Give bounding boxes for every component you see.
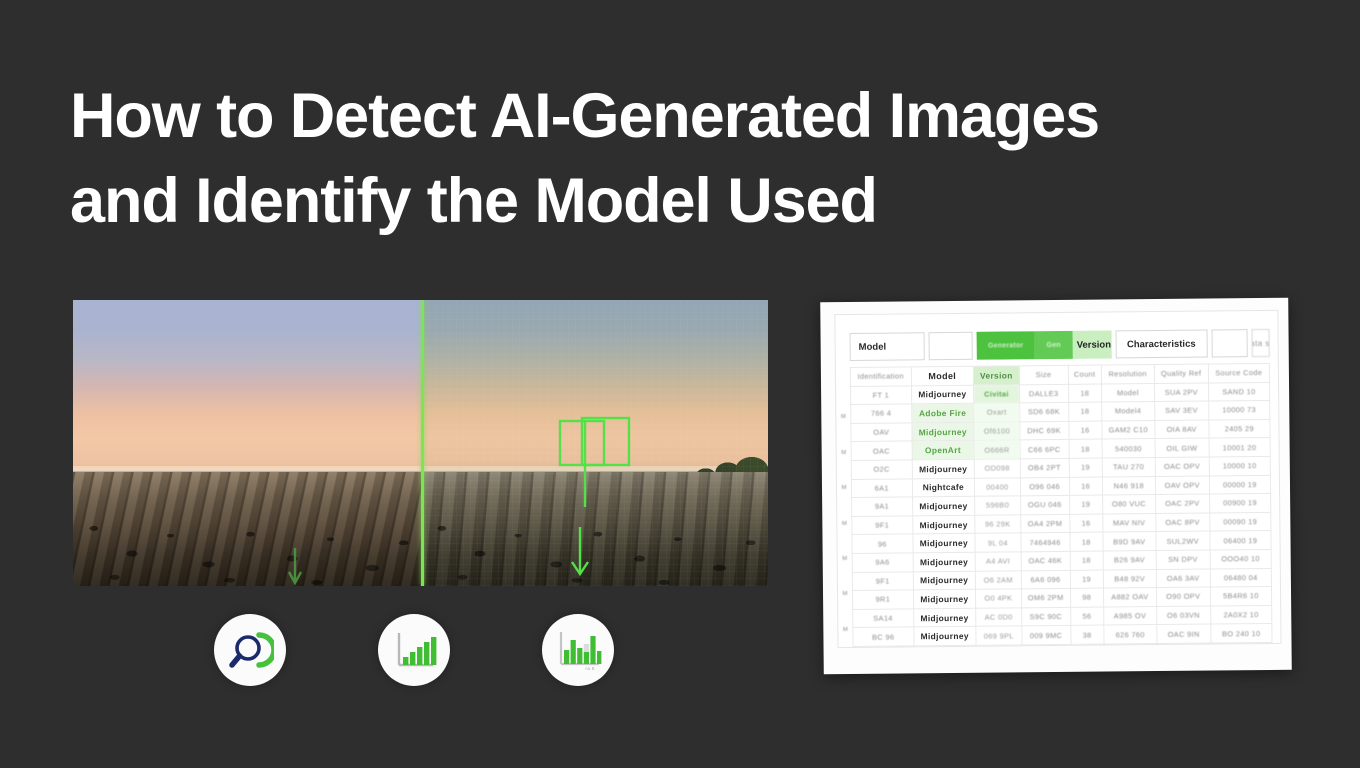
cell-quality-ref: SN DPV <box>1156 550 1210 569</box>
cell-model: Midjourney <box>914 645 977 648</box>
model-comparison-table-panel: Model Generator Gen Version Characterist… <box>820 298 1292 674</box>
cell-size: OA4 2PM <box>1020 514 1069 533</box>
bar-chart-ascending-glyph <box>391 627 437 673</box>
cell-count: 98 <box>1070 588 1103 607</box>
cell-model: Nightcafe <box>912 478 975 497</box>
cell-quality-ref: OAC OPV <box>1155 457 1209 476</box>
cell-model: Adobe Fire <box>911 403 974 422</box>
cell-size: S9C 90C <box>1021 607 1070 626</box>
cell-resolution: B48 09W <box>1104 643 1157 648</box>
cell-source-code: 06400 19 <box>1210 531 1271 550</box>
cell-identification: BC 96 <box>853 627 914 646</box>
cell-resolution: TAU 270 <box>1102 458 1155 477</box>
ploughed-field-ai <box>421 472 768 586</box>
cell-count: 18 <box>1070 551 1103 570</box>
cell-size: C66 6PC <box>1020 440 1069 459</box>
col-quality-ref: Quality Ref <box>1154 364 1208 383</box>
comparison-split-line <box>421 300 424 586</box>
bar-chart-distribution-glyph: Aa B <box>554 626 602 674</box>
comparison-grid-body: FT 1MidjourneyCivitaiDALLE318ModelSUA 2P… <box>851 382 1273 648</box>
cell-identification: 9F1 <box>852 516 913 535</box>
cell-size: OM6 2PM <box>1021 588 1070 607</box>
cell-identification: 9A1 <box>852 497 913 516</box>
filter-version-label: Version <box>1077 330 1112 358</box>
cell-model: Midjourney <box>913 589 976 608</box>
cell-identification: 766 4 <box>851 404 912 423</box>
page-title-line-1: How to Detect AI-Generated Images <box>70 74 1270 159</box>
cell-quality-ref: OA6 3AV <box>1156 569 1210 588</box>
cell-quality-ref: OAV OPV <box>1155 476 1209 495</box>
cell-size: O96 046 <box>1020 477 1069 496</box>
cell-quality-ref: O6 03VN <box>1156 606 1210 625</box>
cell-resolution: B9D 9AV <box>1103 532 1156 551</box>
col-size: Size <box>1019 365 1068 384</box>
svg-text:Aa B: Aa B <box>585 666 595 671</box>
row-marker-gutter: MMMMMMM <box>835 315 852 647</box>
magnifier-analysis-glyph <box>226 626 274 674</box>
cell-size: DHC 69K <box>1020 421 1069 440</box>
cell-count: 19 <box>1069 458 1102 477</box>
cell-model: OpenArt <box>912 441 975 460</box>
cell-identification: 9A6 <box>852 553 913 572</box>
cell-source-code: 06480 04 <box>1210 568 1271 587</box>
cell-model: Midjourney <box>911 422 974 441</box>
cell-quality-ref: OIL GIW <box>1155 438 1209 457</box>
cell-resolution: GAM2 C10 <box>1102 420 1155 439</box>
cell-size: DALLE3 <box>1019 384 1068 403</box>
row-marker: M <box>840 485 848 491</box>
model-comparison-table: Model Generator Gen Version Characterist… <box>834 310 1281 648</box>
cell-version: 66 000 <box>976 645 1022 648</box>
cell-version: 00400 <box>974 477 1020 496</box>
cell-model: Midjourney <box>913 534 976 553</box>
bar-chart-distribution-icon[interactable]: Aa B <box>542 614 614 686</box>
cell-count: 19 <box>1070 570 1103 589</box>
col-source-code: Source Code <box>1208 363 1269 382</box>
cell-size: OGU 046 <box>1020 496 1069 515</box>
cell-identification: 6A1 <box>851 478 912 497</box>
cell-model: Midjourney <box>913 552 976 571</box>
cell-source-code: OOO40 10 <box>1210 549 1271 568</box>
filter-blank1[interactable] <box>929 332 973 360</box>
cell-count: 16 <box>1069 477 1102 496</box>
row-marker: M <box>840 521 848 527</box>
cell-size: 7464946 <box>1021 533 1070 552</box>
cell-size: 009 9MC <box>1022 626 1071 645</box>
cell-count: 18 <box>1069 439 1102 458</box>
cell-resolution: 540030 <box>1102 439 1155 458</box>
ploughed-field-real <box>73 472 421 586</box>
cell-quality-ref: OIA 8AV <box>1155 420 1209 439</box>
cell-quality-ref: OAC 9IN <box>1157 624 1211 643</box>
sky-gradient-real <box>73 300 421 472</box>
cell-source-code: 00900 19 <box>1209 494 1270 513</box>
cell-resolution: O80 VUC <box>1102 495 1155 514</box>
row-marker: M <box>841 627 849 633</box>
row-marker: M <box>839 414 847 420</box>
cell-identification: 9F1 60 <box>853 646 914 648</box>
cell-count: 38 <box>1070 625 1103 644</box>
cell-quality-ref: SAV 3EV <box>1154 401 1208 420</box>
cell-source-code: 5B4R6 10 <box>1210 587 1271 606</box>
ai-vs-real-landscape-comparison <box>73 300 768 586</box>
cell-version: 9L 04 <box>975 533 1021 552</box>
cell-count: 18 <box>1068 384 1101 403</box>
cell-version: 596B0 <box>975 496 1021 515</box>
cell-source-code: 00090 19 <box>1209 512 1270 531</box>
col-count: Count <box>1068 365 1101 384</box>
cell-model: Midjourney <box>911 385 974 404</box>
filter-version[interactable]: Generator Gen Version <box>977 330 1112 359</box>
col-model: Model <box>911 366 974 385</box>
col-identification: Identification <box>850 367 911 386</box>
cell-resolution: A985 OV <box>1104 606 1157 625</box>
cell-version: Of6100 <box>974 422 1020 441</box>
cell-model: Midjourney <box>913 608 976 627</box>
cell-version: O6 2AM <box>975 570 1021 589</box>
table-filter-bar: Model Generator Gen Version Characterist… <box>850 329 1270 361</box>
cell-version: Oxart <box>974 403 1020 422</box>
page-title-line-2: and Identify the Model Used <box>70 159 1270 244</box>
cell-quality-ref: OAC 8PV <box>1155 513 1209 532</box>
cell-model: Midjourney <box>912 496 975 515</box>
cell-source-code: 10000 73 <box>1208 401 1269 420</box>
filter-meta[interactable]: AI data score <box>1252 329 1270 357</box>
comparison-grid: Identification Model Version Size Count … <box>850 363 1273 648</box>
soil-texture-real <box>73 514 421 586</box>
cell-version: O666R <box>974 440 1020 459</box>
cell-source-code: 10000 10 <box>1209 456 1270 475</box>
cell-model: Midjourney <box>913 627 976 646</box>
cell-size: SD6 68K <box>1019 403 1068 422</box>
cell-version: A4 AVI <box>975 552 1021 571</box>
cell-count: 19 <box>1069 495 1102 514</box>
feature-icon-row: Aa B <box>214 614 634 686</box>
cell-count: 18 <box>1068 402 1101 421</box>
cell-count: 18 <box>1069 532 1102 551</box>
col-version: Version <box>973 366 1019 385</box>
cell-count: 16 <box>1069 514 1102 533</box>
cell-source-code: BO 240 10 <box>1211 624 1272 643</box>
cell-quality-ref: SUL2WV <box>1156 531 1210 550</box>
filter-model[interactable]: Model <box>850 332 925 361</box>
cell-source-code: 00000 19 <box>1209 475 1270 494</box>
cell-size: 6A6 096 <box>1021 570 1070 589</box>
cell-resolution: A882 OAV <box>1103 588 1156 607</box>
cell-version: 96 29K <box>975 515 1021 534</box>
cell-resolution: N46 918 <box>1102 476 1155 495</box>
real-photo-half <box>73 300 421 586</box>
filter-version-blur-a: Generator <box>977 331 1035 360</box>
cell-model: Midjourney <box>912 515 975 534</box>
cell-identification: OAV <box>851 423 912 442</box>
ai-generated-half <box>421 300 768 586</box>
col-resolution: Resolution <box>1101 365 1154 384</box>
cell-count: 56 <box>1071 644 1104 648</box>
cell-model: Midjourney <box>913 571 976 590</box>
cell-version: O0 4PK <box>976 589 1022 608</box>
cell-version: Civitai <box>974 384 1020 403</box>
cell-quality-ref: 9AV 9IW <box>1157 643 1211 648</box>
page-title: How to Detect AI-Generated Images and Id… <box>70 74 1270 244</box>
cell-source-code: 10001 20 <box>1209 438 1270 457</box>
cell-count: 16 <box>1068 421 1101 440</box>
cell-resolution: MAV NIV <box>1103 513 1156 532</box>
filter-blank2[interactable] <box>1211 329 1248 357</box>
cell-identification: 9R1 <box>852 590 913 609</box>
cell-resolution: Model4 <box>1102 402 1155 421</box>
magnifier-analysis-icon[interactable] <box>214 614 286 686</box>
cell-quality-ref: O90 OPV <box>1156 587 1210 606</box>
cell-identification: O2C <box>851 460 912 479</box>
row-marker: M <box>841 556 849 562</box>
cell-version: AC 0D0 <box>976 608 1022 627</box>
cell-identification: 9F1 <box>852 571 913 590</box>
cell-quality-ref: SUA 2PV <box>1154 383 1208 402</box>
cell-size: NW 54PC <box>1022 644 1071 648</box>
cell-identification: FT 1 <box>851 385 912 404</box>
cell-resolution: 626 760 <box>1104 625 1157 644</box>
cell-resolution: B48 92V <box>1103 569 1156 588</box>
cell-model: Midjourney <box>912 459 975 478</box>
cell-resolution: Model <box>1101 383 1154 402</box>
filter-version-blur-b: Gen <box>1035 331 1073 359</box>
cell-size: OB4 2PT <box>1020 458 1069 477</box>
cell-source-code: 2A 9C6 10 <box>1211 642 1272 648</box>
cell-size: OAC 46K <box>1021 551 1070 570</box>
cell-identification: 96 <box>852 534 913 553</box>
cell-identification: OAC <box>851 441 912 460</box>
row-marker: M <box>840 450 848 456</box>
bar-chart-ascending-icon[interactable] <box>378 614 450 686</box>
cell-identification: SA14 <box>853 609 914 628</box>
cell-source-code: SAND 10 <box>1208 382 1269 401</box>
cell-quality-ref: OAC 2PV <box>1155 494 1209 513</box>
row-marker: M <box>841 591 849 597</box>
cell-source-code: 2405 29 <box>1209 419 1270 438</box>
cell-source-code: 2A0X2 10 <box>1210 605 1271 624</box>
soil-texture-ai <box>421 514 768 586</box>
cell-version: 069 9PL <box>976 626 1022 645</box>
filter-characteristics[interactable]: Characteristics <box>1115 330 1207 359</box>
cell-resolution: B26 9AV <box>1103 550 1156 569</box>
cell-version: OD098 <box>974 459 1020 478</box>
cell-count: 56 <box>1070 607 1103 626</box>
